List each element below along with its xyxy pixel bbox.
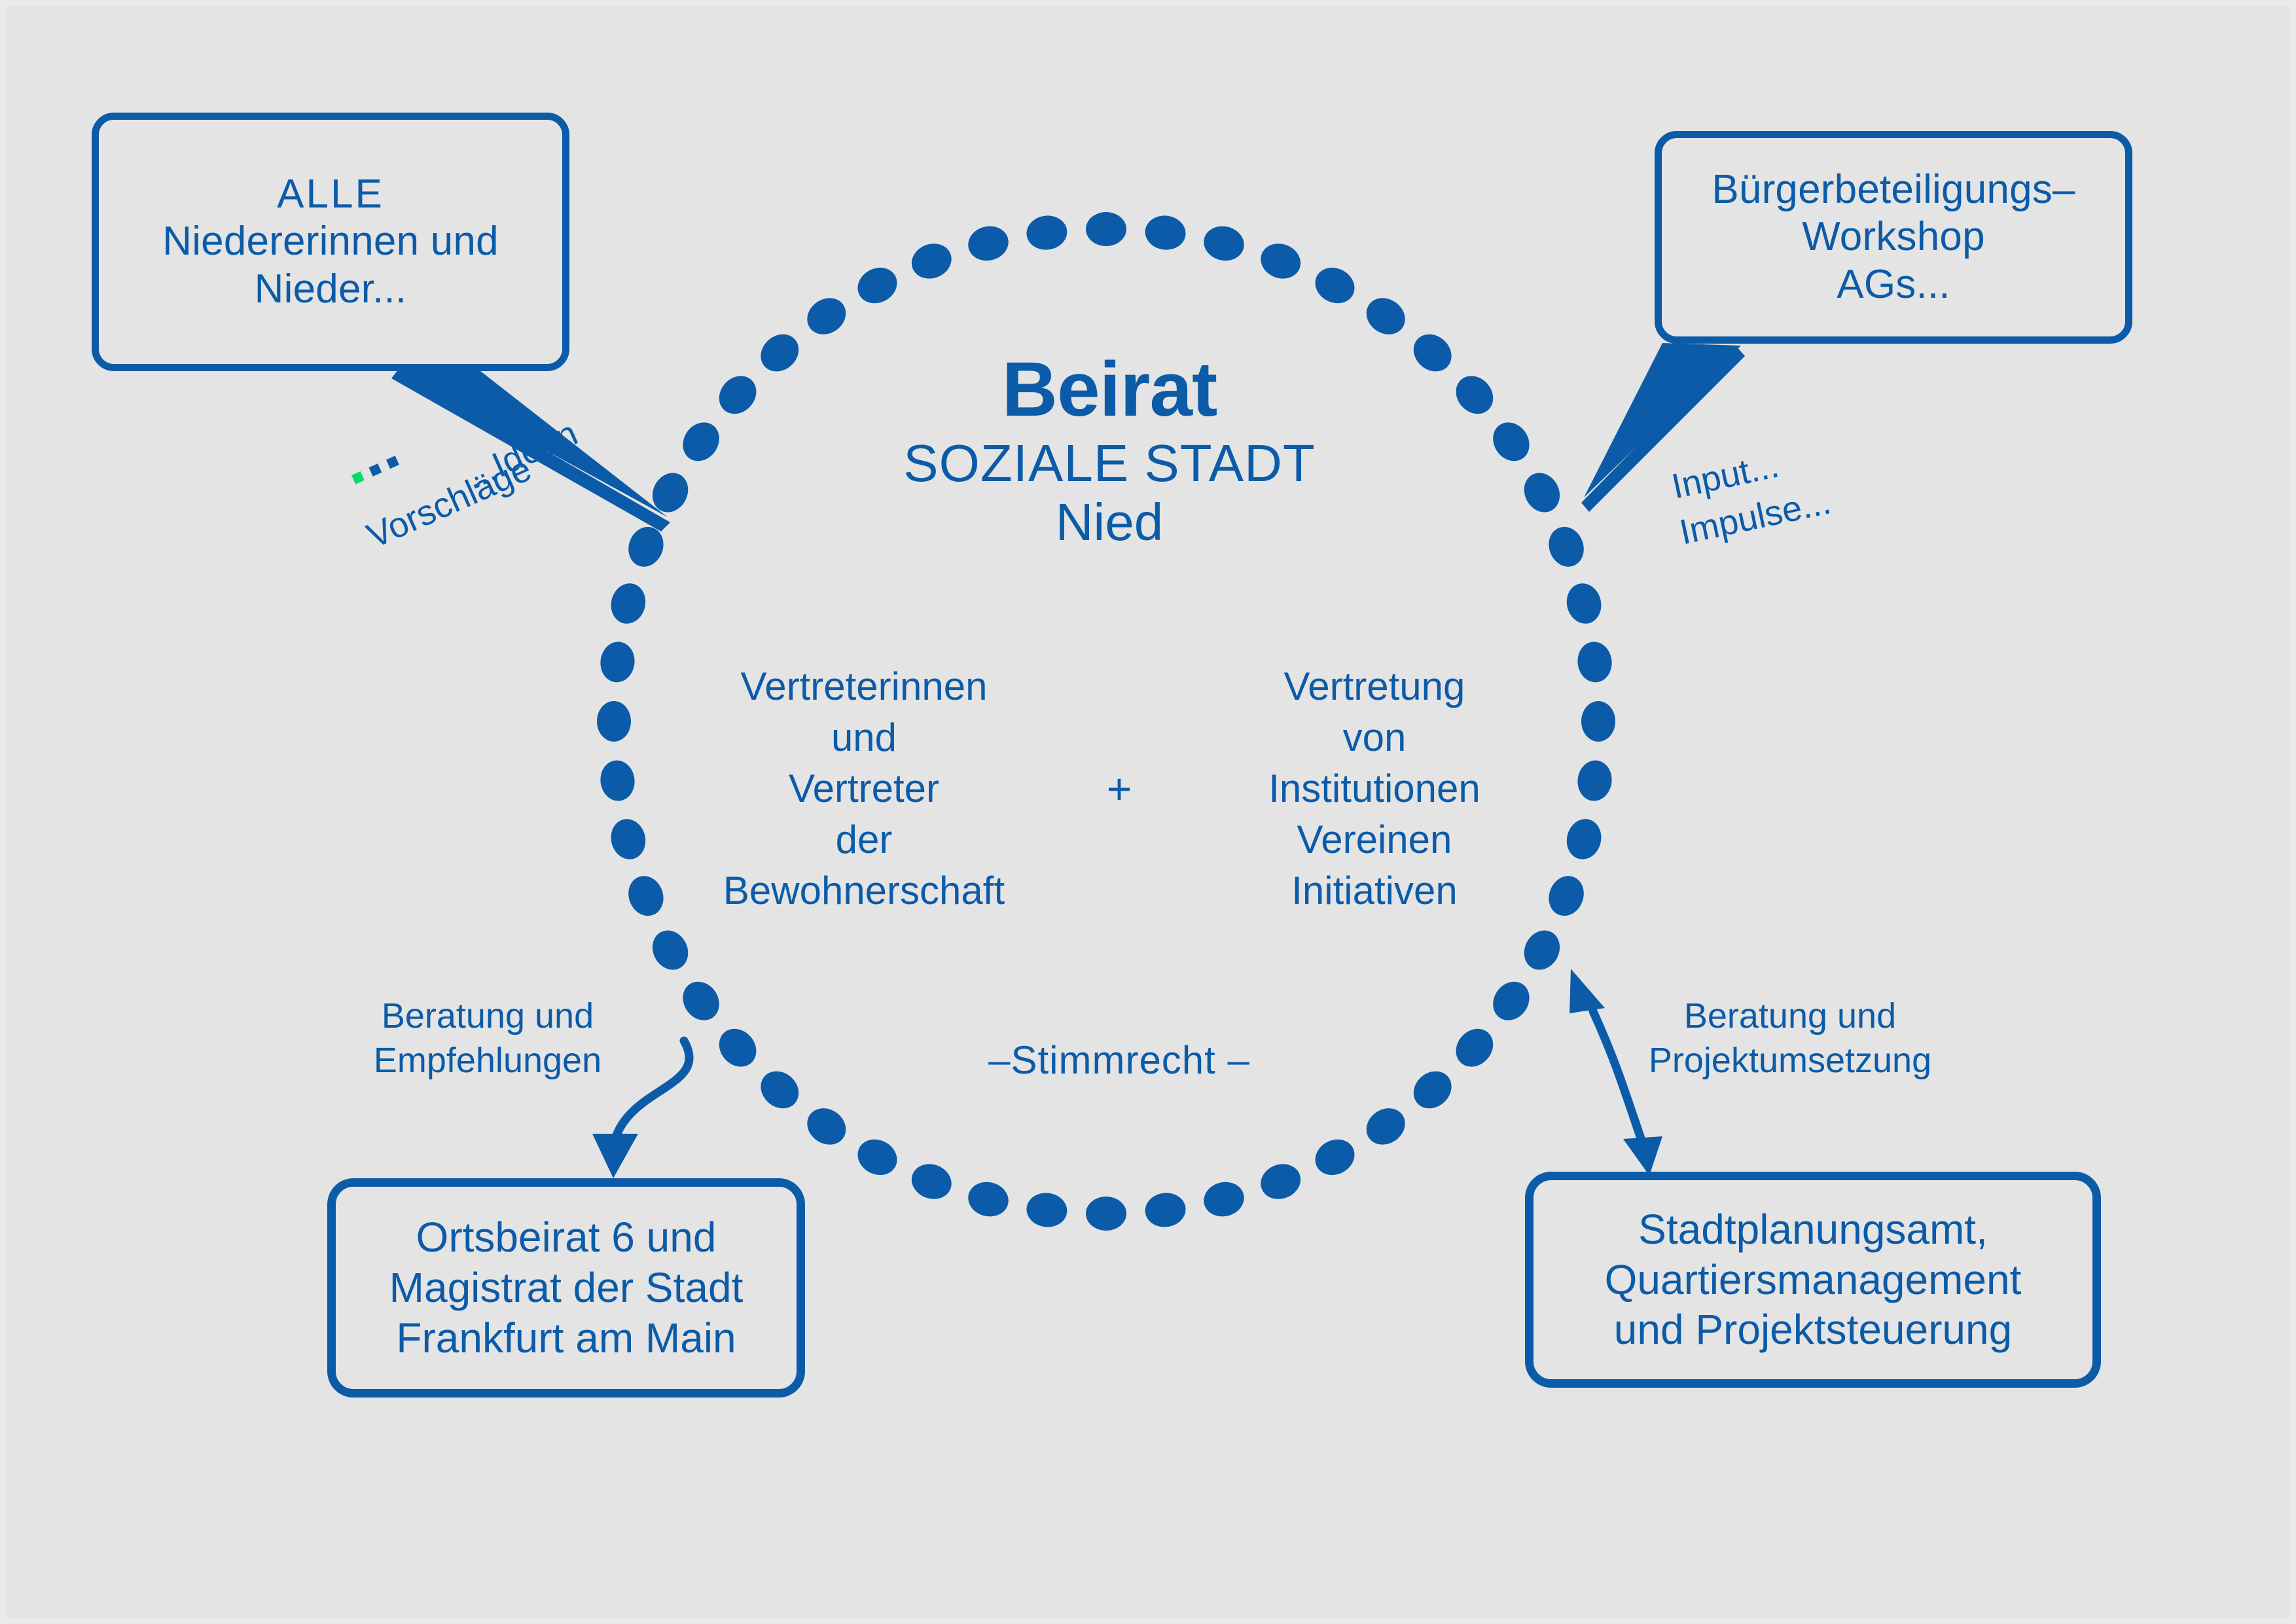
circle-heading-group: Beirat SOZIALE STADT Nied [772, 350, 1446, 552]
circle-dot [1359, 1101, 1412, 1152]
label-beratung-projektumsetzung: Beratung und Projektumsetzung [1636, 994, 1944, 1083]
circle-dot [1575, 759, 1614, 803]
column-right-line-3: Vereinen [1204, 814, 1545, 865]
box-right-line-1: Quartiersmanagement [1605, 1255, 2022, 1305]
circle-dot [1255, 1159, 1305, 1205]
circle-dot [1086, 1197, 1126, 1231]
circle-dot [1086, 212, 1126, 246]
circle-dot [1562, 816, 1605, 863]
box-left-line-0: Ortsbeirat 6 und [416, 1212, 717, 1263]
circle-dot [1406, 1064, 1459, 1116]
circle-dot [906, 238, 956, 285]
arrow-head-right-up [1570, 969, 1605, 1013]
circle-dot [597, 701, 631, 742]
plus-operator: + [1100, 767, 1139, 810]
circle-dot [1025, 1191, 1069, 1229]
circle-dot [1562, 580, 1605, 628]
membership-columns: Vertreterinnen und Vertreter der Bewohne… [694, 661, 1545, 916]
circle-dot [852, 1132, 903, 1182]
circle-dot [711, 369, 764, 422]
circle-dot [1486, 975, 1537, 1028]
diagram-canvas: ALLE Niedererinnen und Nieder... Bürgerb… [0, 0, 2296, 1624]
circle-dot [852, 261, 903, 310]
bubble-alle-line1: ALLE [277, 171, 384, 219]
circle-dot [598, 759, 637, 803]
column-left-line-3: der [694, 814, 1034, 865]
circle-dot [906, 1159, 956, 1205]
circle-dot [1581, 701, 1615, 742]
circle-subtitle-line1: SOZIALE STADT [772, 434, 1446, 493]
bubble-workshop-line2: Workshop [1802, 213, 1985, 261]
arrow-head-left [592, 1134, 638, 1178]
circle-dot [1309, 1132, 1361, 1182]
circle-dot [623, 871, 670, 920]
circle-dot [965, 1178, 1013, 1220]
circle-dot [1309, 261, 1361, 310]
bubble-buergerbeteiligung[interactable]: Bürgerbeteiligungs– Workshop AGs... [1655, 131, 2132, 344]
label-beratung-left-line2: Empfehlungen [357, 1038, 619, 1083]
column-left-line-1: und [694, 712, 1034, 763]
label-beratung-right-line1: Beratung und [1636, 994, 1944, 1038]
circle-dot [800, 1101, 853, 1152]
circle-dot [598, 640, 637, 685]
label-beratung-left-line1: Beratung und [357, 994, 619, 1038]
column-bewohnerschaft: Vertreterinnen und Vertreter der Bewohne… [694, 661, 1034, 916]
circle-dot [1486, 416, 1537, 469]
bubble-alle[interactable]: ALLE Niedererinnen und Nieder... [92, 113, 569, 371]
circle-dot [1517, 467, 1566, 518]
column-left-line-4: Bewohnerschaft [694, 865, 1034, 916]
circle-dot [800, 291, 853, 342]
circle-dot [1448, 369, 1501, 422]
circle-dot [1200, 222, 1248, 264]
arrow-curve-left [615, 1041, 689, 1139]
circle-dot [1255, 238, 1305, 285]
bubble-alle-line2: Niedererinnen und [162, 218, 499, 266]
column-institutionen: Vertretung von Institutionen Vereinen In… [1204, 661, 1545, 916]
label-beratung-right-line2: Projektumsetzung [1636, 1038, 1944, 1083]
circle-dot [1025, 213, 1069, 252]
arrow-head-right-down [1623, 1136, 1662, 1176]
column-right-line-0: Vertretung [1204, 661, 1545, 712]
column-left-line-2: Vertreter [694, 763, 1034, 814]
circle-dot [711, 1021, 764, 1074]
circle-dot [646, 924, 695, 976]
circle-dot [1543, 522, 1590, 571]
circle-dot [1575, 640, 1614, 685]
circle-dot [607, 580, 649, 628]
arrow-curve-right [1593, 1011, 1641, 1140]
box-right-line-0: Stadtplanungsamt, [1638, 1204, 1988, 1255]
circle-dot [675, 416, 726, 469]
circle-subtitle-line2: Nied [772, 493, 1446, 552]
column-right-line-1: von [1204, 712, 1545, 763]
box-ortsbeirat-magistrat[interactable]: Ortsbeirat 6 und Magistrat der Stadt Fra… [327, 1178, 805, 1398]
circle-dot [1143, 1191, 1188, 1229]
box-right-line-2: und Projektsteuerung [1614, 1305, 2012, 1355]
box-left-line-1: Magistrat der Stadt [389, 1263, 744, 1313]
column-left-line-0: Vertreterinnen [694, 661, 1034, 712]
box-stadtplanungsamt[interactable]: Stadtplanungsamt, Quartiersmanagement un… [1525, 1172, 2101, 1388]
box-left-line-2: Frankfurt am Main [396, 1313, 736, 1363]
circle-dot [1143, 213, 1188, 252]
page-title: Beirat [772, 350, 1446, 429]
circle-dot [607, 816, 649, 863]
bubble-workshop-line3: AGs... [1837, 261, 1950, 309]
circle-dot [1359, 291, 1412, 342]
circle-dot [646, 467, 695, 518]
column-right-line-4: Initiativen [1204, 865, 1545, 916]
circle-dot [753, 1064, 806, 1116]
bubble-alle-line3: Nieder... [255, 266, 407, 314]
circle-dot [675, 975, 726, 1028]
stimmrecht-note: –Stimmrecht – [916, 1038, 1322, 1083]
circle-dot [1517, 924, 1566, 976]
circle-dot [1200, 1178, 1248, 1220]
circle-dot [965, 222, 1013, 264]
circle-dot [1543, 871, 1590, 920]
label-beratung-empfehlungen: Beratung und Empfehlungen [357, 994, 619, 1083]
circle-dot [1448, 1021, 1501, 1074]
bubble-workshop-line1: Bürgerbeteiligungs– [1712, 166, 2075, 214]
column-right-line-2: Institutionen [1204, 763, 1545, 814]
